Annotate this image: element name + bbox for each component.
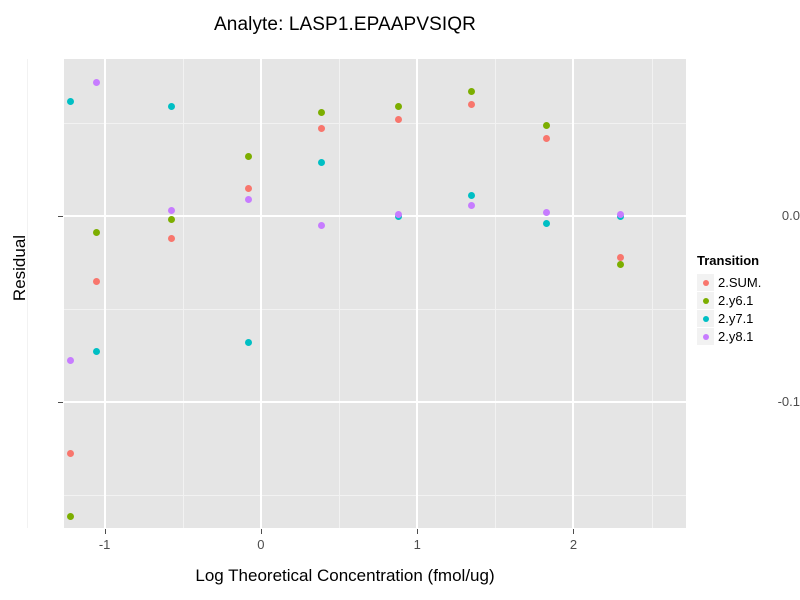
- gridline-major-horizontal: [64, 401, 686, 403]
- data-point: [468, 88, 475, 95]
- x-axis-tick-label: -1: [85, 537, 125, 552]
- legend-item[interactable]: 2.y7.1: [697, 310, 797, 327]
- gridline-major-horizontal: [64, 215, 686, 217]
- data-point: [617, 254, 624, 261]
- data-point: [617, 211, 624, 218]
- data-point: [468, 202, 475, 209]
- data-point: [543, 220, 550, 227]
- data-point: [168, 216, 175, 223]
- data-point: [67, 513, 74, 520]
- x-axis-tick-mark: [573, 529, 574, 534]
- legend-item-label: 2.y8.1: [718, 329, 753, 344]
- data-point: [67, 98, 74, 105]
- x-axis-tick-mark: [105, 529, 106, 534]
- data-point: [245, 153, 252, 160]
- data-point: [67, 357, 74, 364]
- data-point: [67, 450, 74, 457]
- legend-key-swatch: [697, 292, 714, 309]
- data-point: [93, 278, 100, 285]
- data-point: [168, 207, 175, 214]
- x-axis-tick-mark: [417, 529, 418, 534]
- x-axis-tick-label: 1: [397, 537, 437, 552]
- gridline-minor-vertical: [183, 59, 184, 528]
- legend-key-swatch: [697, 310, 714, 327]
- data-point: [543, 135, 550, 142]
- x-axis-tick-label: 0: [241, 537, 281, 552]
- data-point: [318, 125, 325, 132]
- gridline-minor-horizontal: [64, 495, 686, 496]
- legend-item[interactable]: 2.SUM.: [697, 274, 797, 291]
- legend-item-label: 2.SUM.: [718, 275, 761, 290]
- data-point: [468, 192, 475, 199]
- gridline-minor-horizontal: [64, 309, 686, 310]
- legend-item-label: 2.y7.1: [718, 311, 753, 326]
- gridline-minor-vertical: [652, 59, 653, 528]
- legend-item[interactable]: 2.y6.1: [697, 292, 797, 309]
- gridline-minor-vertical: [339, 59, 340, 528]
- data-point: [245, 196, 252, 203]
- page-title: Analyte: LASP1.EPAAPVSIQR: [0, 14, 690, 36]
- gridline-major-vertical: [260, 59, 262, 528]
- y-axis-tick-mark: [58, 402, 63, 403]
- data-point: [168, 235, 175, 242]
- legend: Transition 2.SUM.2.y6.12.y7.12.y8.1: [697, 253, 797, 346]
- data-point: [395, 211, 402, 218]
- legend-title: Transition: [697, 253, 797, 268]
- chart-root: Analyte: LASP1.EPAAPVSIQR 0.0-0.1-1012 L…: [0, 0, 800, 600]
- legend-item-label: 2.y6.1: [718, 293, 753, 308]
- data-point: [617, 261, 624, 268]
- data-point: [468, 101, 475, 108]
- gridline-major-vertical: [104, 59, 106, 528]
- legend-dot-icon: [703, 334, 709, 340]
- data-point: [245, 185, 252, 192]
- gridline-minor-vertical: [495, 59, 496, 528]
- y-axis-tick-mark: [58, 216, 63, 217]
- legend-item[interactable]: 2.y8.1: [697, 328, 797, 345]
- data-point: [93, 229, 100, 236]
- x-axis-title: Log Theoretical Concentration (fmol/ug): [0, 566, 690, 586]
- y-axis-tick-label: -0.1: [754, 394, 800, 409]
- y-axis-title: Residual: [10, 168, 30, 368]
- data-point: [318, 222, 325, 229]
- data-point: [168, 103, 175, 110]
- gridline-minor-horizontal: [64, 123, 686, 124]
- data-point: [318, 109, 325, 116]
- data-point: [245, 339, 252, 346]
- x-axis-tick-label: 2: [553, 537, 593, 552]
- gridline-major-vertical: [572, 59, 574, 528]
- legend-key-swatch: [697, 328, 714, 345]
- data-point: [395, 116, 402, 123]
- data-point: [93, 348, 100, 355]
- legend-rows: 2.SUM.2.y6.12.y7.12.y8.1: [697, 274, 797, 345]
- data-point: [543, 122, 550, 129]
- legend-dot-icon: [703, 316, 709, 322]
- plot-panel: [64, 59, 686, 528]
- legend-dot-icon: [703, 298, 709, 304]
- legend-dot-icon: [703, 280, 709, 286]
- data-point: [93, 79, 100, 86]
- y-axis-tick-label: 0.0: [754, 208, 800, 223]
- data-point: [395, 103, 402, 110]
- legend-key-swatch: [697, 274, 714, 291]
- data-point: [318, 159, 325, 166]
- gridline-major-vertical: [416, 59, 418, 528]
- x-axis-tick-mark: [261, 529, 262, 534]
